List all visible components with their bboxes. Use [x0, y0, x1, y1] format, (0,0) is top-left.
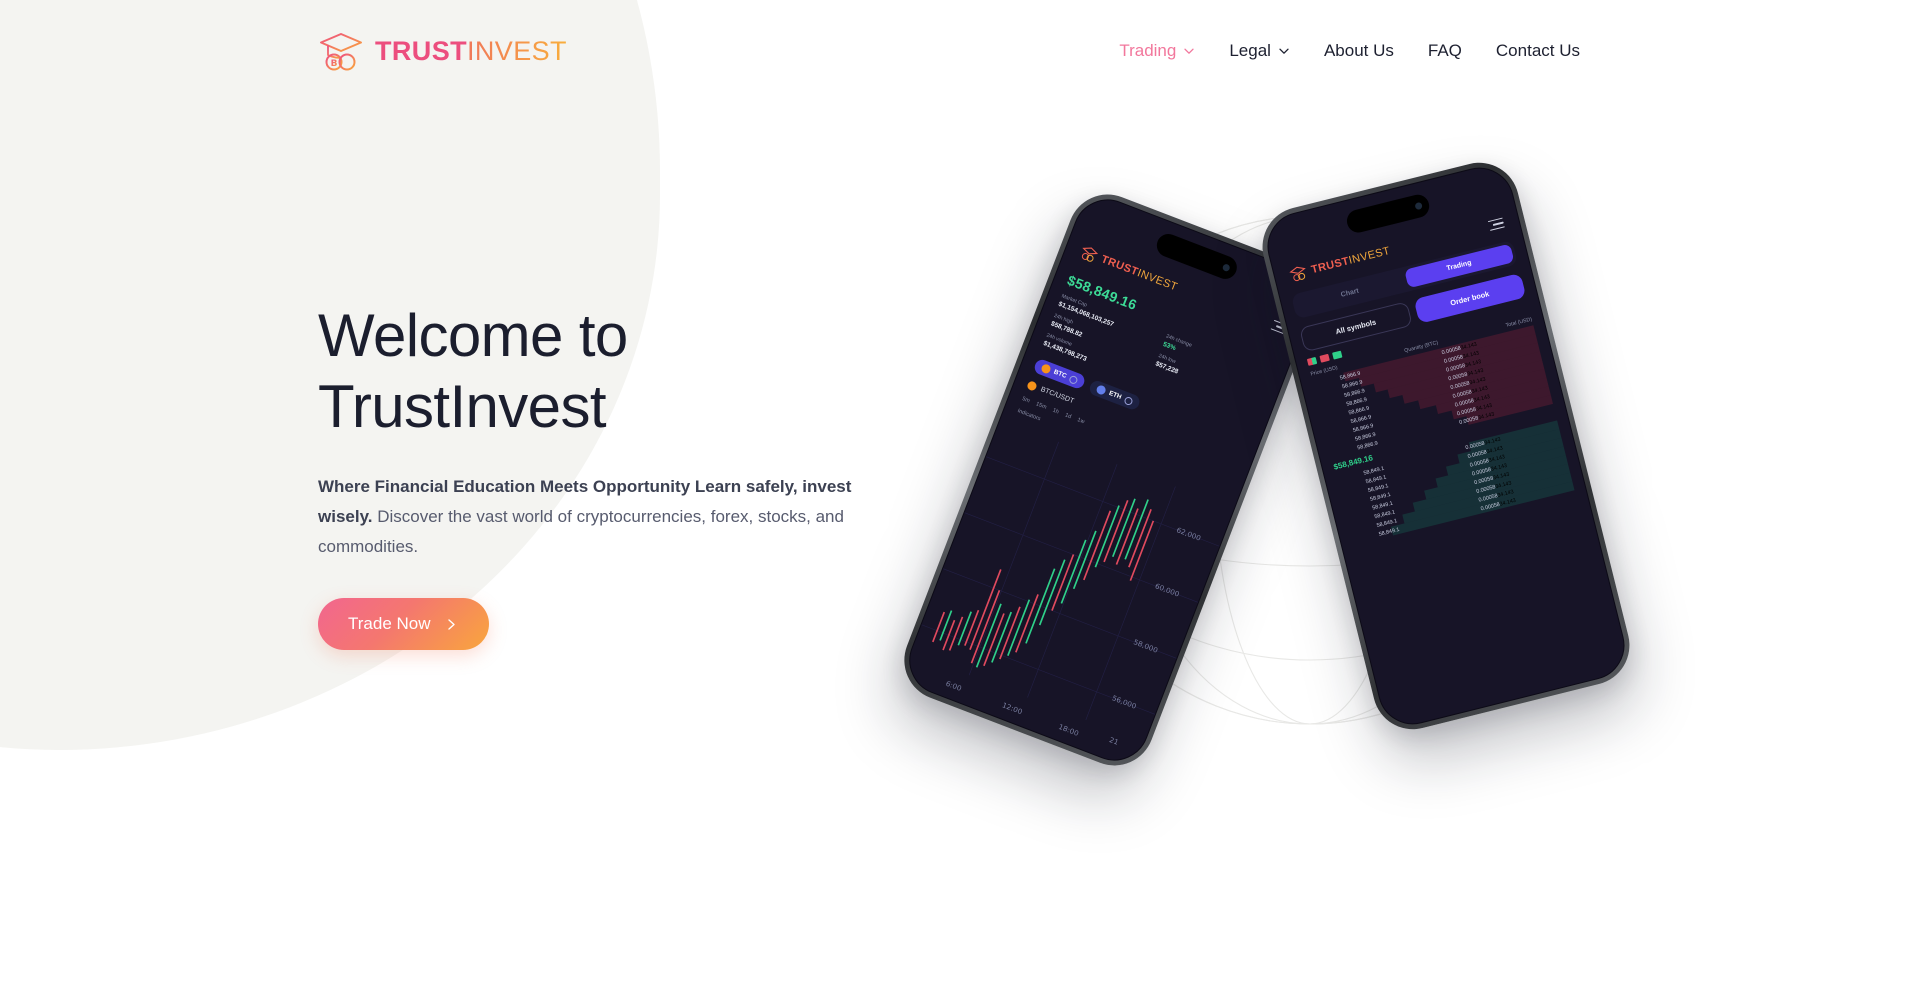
chart-ytick-2: 58,000 — [1132, 637, 1159, 655]
svg-text:B: B — [331, 59, 338, 69]
nav-item-contact-us-label: Contact Us — [1496, 42, 1580, 59]
hero-visual: TRUSTINVEST $58,849.16 Market Cap $1,154… — [985, 140, 1635, 800]
chart-ytick-0: 62,000 — [1175, 525, 1202, 543]
chart-xtick-2: 18:00 — [1057, 722, 1080, 738]
depth-bids-icon[interactable] — [1332, 351, 1342, 360]
timeframe-5m[interactable]: 5m — [1021, 396, 1030, 404]
brand-word-invest: INVEST — [467, 38, 567, 65]
timeframe-1h[interactable]: 1h — [1052, 408, 1060, 416]
trading-pair-label: BTC/USDT — [1040, 386, 1075, 405]
graduation-cap-coins-icon — [1288, 264, 1308, 284]
timeframe-15m[interactable]: 15m — [1035, 401, 1047, 411]
nav-item-about-us-label: About Us — [1324, 42, 1394, 59]
nav-item-trading-label: Trading — [1119, 42, 1176, 59]
chevron-down-icon — [1183, 45, 1195, 57]
asset-chip-eth-label: ETH — [1108, 390, 1122, 401]
depth-both-icon[interactable] — [1307, 357, 1317, 366]
trade-now-button[interactable]: Trade Now — [318, 598, 489, 650]
bitcoin-icon — [1040, 363, 1052, 375]
chevron-right-icon — [444, 617, 459, 632]
phone-left-logo-invest: INVEST — [1136, 267, 1180, 293]
nav-item-about-us[interactable]: About Us — [1324, 42, 1394, 59]
chart-xtick-1: 12:00 — [1001, 700, 1024, 716]
brand-word-trust: TRUST — [375, 38, 467, 65]
depth-asks-icon[interactable] — [1319, 354, 1329, 363]
ethereum-icon — [1095, 384, 1107, 396]
chart-ytick-3: 56,000 — [1111, 693, 1138, 711]
circle-icon — [1123, 395, 1133, 405]
bitcoin-icon — [1026, 380, 1038, 392]
hero-title-line-2: TrustInvest — [318, 373, 606, 440]
hero-subtitle: Where Financial Education Meets Opportun… — [318, 472, 873, 562]
hero-title-line-1: Welcome to — [318, 302, 628, 369]
hero-section: Welcome to TrustInvest Where Financial E… — [318, 300, 898, 650]
site-header: B TRUSTINVEST Trading Legal About Us FAQ — [0, 0, 1920, 110]
trade-now-label: Trade Now — [348, 614, 431, 634]
chart-xtick-3: 21 — [1108, 735, 1120, 747]
circle-icon — [1069, 374, 1079, 384]
asset-chip-btc-label: BTC — [1053, 369, 1068, 380]
phone-right-content: Chart Trading All symbols Order book Pri… — [1280, 237, 1585, 548]
main-navigation: Trading Legal About Us FAQ Contact Us — [1119, 42, 1580, 59]
chart-ytick-1: 60,000 — [1154, 581, 1181, 599]
nav-item-contact-us[interactable]: Contact Us — [1496, 42, 1580, 59]
brand-wordmark: TRUSTINVEST — [375, 38, 567, 65]
nav-item-trading[interactable]: Trading — [1119, 42, 1195, 59]
timeframe-1w[interactable]: 1w — [1076, 417, 1085, 425]
chart-xtick-0: 6:00 — [944, 679, 963, 693]
phone-right-logo-trust: TRUST — [1310, 255, 1350, 276]
brand-logo[interactable]: B TRUSTINVEST — [318, 30, 567, 72]
phone-left-logo-trust: TRUST — [1100, 253, 1140, 278]
nav-item-legal[interactable]: Legal — [1229, 42, 1290, 59]
hamburger-menu-icon[interactable] — [1488, 217, 1505, 231]
graduation-cap-coins-icon — [1078, 244, 1100, 265]
graduation-cap-coins-icon: B — [318, 30, 364, 72]
page-title: Welcome to TrustInvest — [318, 300, 898, 442]
nav-item-faq-label: FAQ — [1428, 42, 1462, 59]
hero-subtitle-rest: Discover the vast world of cryptocurrenc… — [318, 507, 844, 556]
timeframe-1d[interactable]: 1d — [1064, 412, 1072, 420]
phone-right-logo-invest: INVEST — [1347, 244, 1391, 266]
chevron-down-icon — [1278, 45, 1290, 57]
nav-item-faq[interactable]: FAQ — [1428, 42, 1462, 59]
nav-item-legal-label: Legal — [1229, 42, 1271, 59]
